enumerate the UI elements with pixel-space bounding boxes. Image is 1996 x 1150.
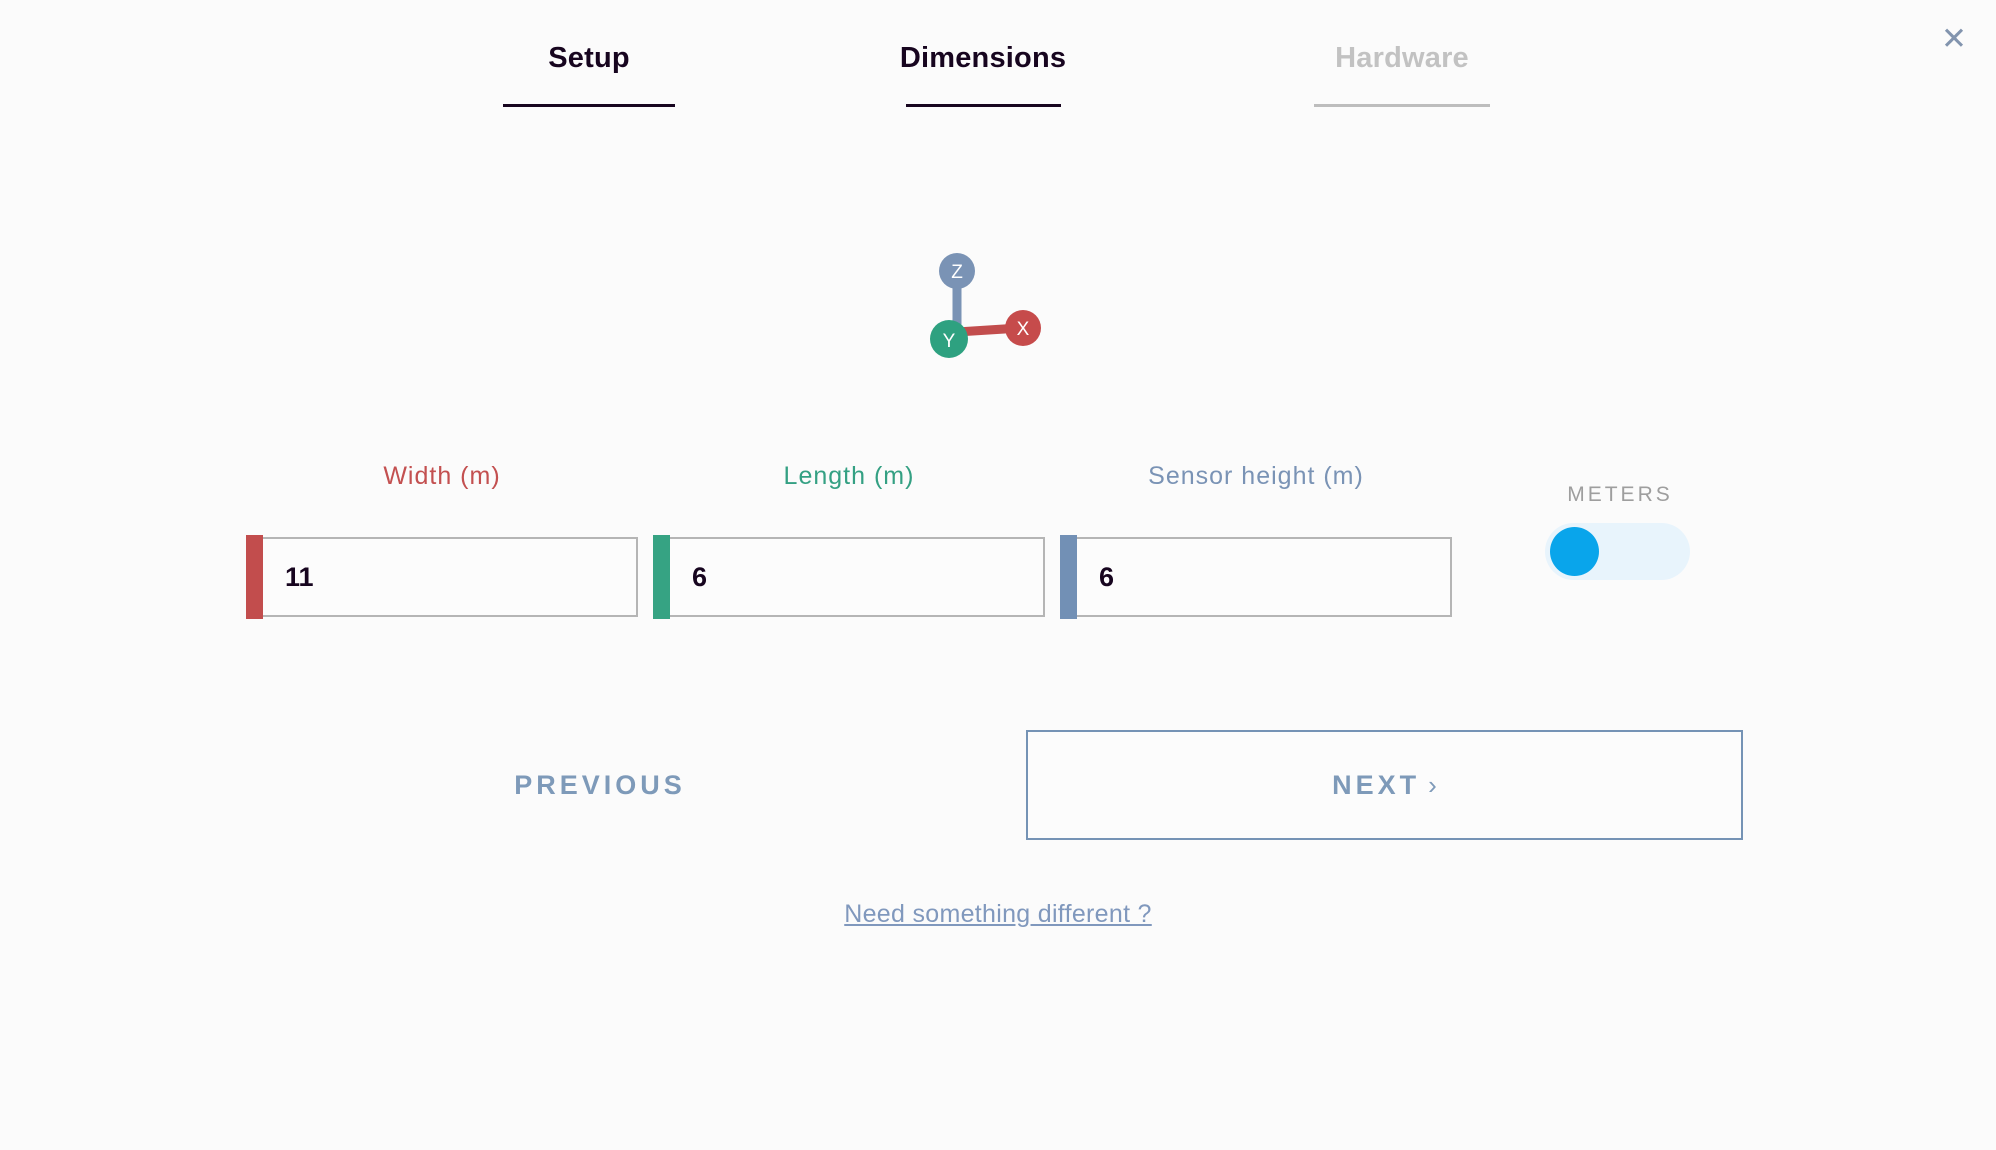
width-input[interactable]: 11 xyxy=(263,537,638,617)
width-accent-bar xyxy=(246,535,263,619)
next-button[interactable]: NEXT › xyxy=(1026,730,1743,840)
tab-hardware-label: Hardware xyxy=(1242,40,1562,76)
need-something-different-label: Need something different ? xyxy=(844,900,1152,928)
length-input[interactable]: 6 xyxy=(670,537,1045,617)
tab-dimensions-underline xyxy=(906,104,1061,107)
axis-z-label: Z xyxy=(951,262,963,283)
axis-y-label: Y xyxy=(943,331,956,352)
label-length: Length (m) xyxy=(653,462,1045,491)
tab-dimensions-label: Dimensions xyxy=(823,40,1143,76)
tab-hardware-underline xyxy=(1314,104,1490,107)
sensor-height-accent-bar xyxy=(1060,535,1077,619)
label-sensor-height: Sensor height (m) xyxy=(1060,462,1452,491)
label-width: Width (m) xyxy=(246,462,638,491)
wizard-navigation: PREVIOUS NEXT › xyxy=(0,730,1996,840)
field-sensor-height: 6 xyxy=(1060,535,1452,619)
unit-toggle-group: METERS xyxy=(1545,483,1695,580)
tab-dimensions[interactable]: Dimensions xyxy=(823,40,1143,107)
tab-setup-underline xyxy=(503,104,675,107)
tab-setup[interactable]: Setup xyxy=(429,40,749,107)
tab-hardware[interactable]: Hardware xyxy=(1242,40,1562,107)
axis-x-label: X xyxy=(1017,319,1030,340)
need-something-different-link[interactable]: Need something different ? xyxy=(0,900,1996,929)
dimensions-wizard-page: ✕ Setup Dimensions Hardware Z X xyxy=(0,0,1996,1150)
axis-indicator: Z X Y xyxy=(912,244,1092,374)
field-labels-row: Width (m) Length (m) Sensor height (m) xyxy=(0,462,1996,502)
dimension-inputs-row: 11 6 6 xyxy=(0,535,1996,630)
wizard-tabs: Setup Dimensions Hardware xyxy=(0,0,1996,130)
chevron-right-icon: › xyxy=(1428,770,1437,801)
unit-toggle-label: METERS xyxy=(1545,483,1695,507)
previous-button[interactable]: PREVIOUS xyxy=(470,730,730,840)
unit-toggle-switch[interactable] xyxy=(1545,523,1690,580)
length-accent-bar xyxy=(653,535,670,619)
sensor-height-input[interactable]: 6 xyxy=(1077,537,1452,617)
field-length: 6 xyxy=(653,535,1045,619)
unit-toggle-knob xyxy=(1550,527,1599,576)
tab-setup-label: Setup xyxy=(429,40,749,76)
next-button-label: NEXT xyxy=(1332,770,1420,801)
field-width: 11 xyxy=(246,535,638,619)
